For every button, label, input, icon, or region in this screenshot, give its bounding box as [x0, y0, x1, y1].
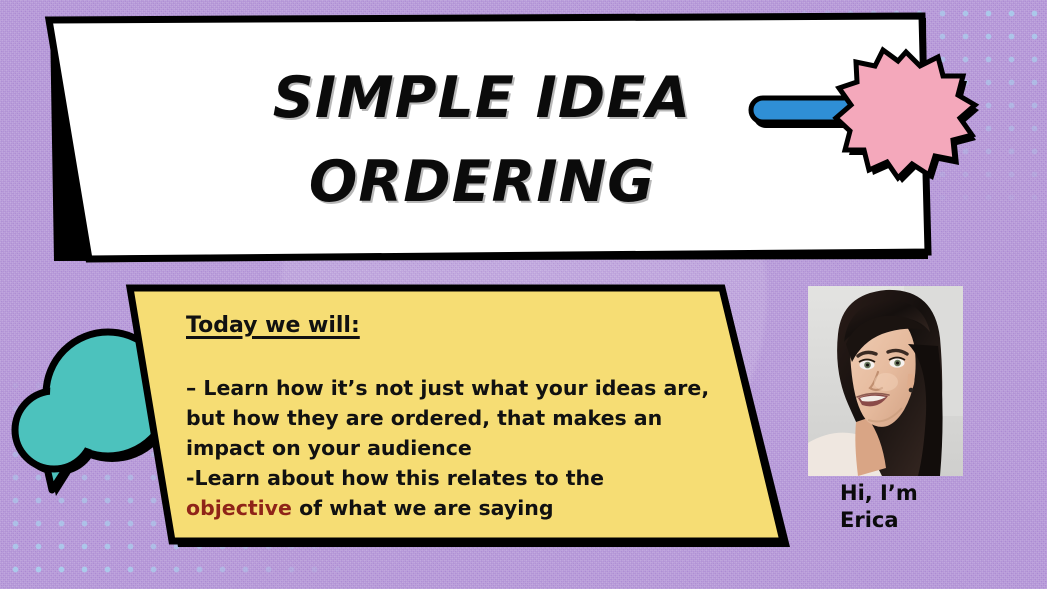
- caption-line-2: Erica: [840, 507, 1030, 534]
- card-line-2: but how they are ordered, that makes an: [186, 403, 756, 433]
- slide-title: SIMPLE IDEA ORDERING: [38, 56, 926, 224]
- title-line-2: ORDERING: [38, 140, 926, 224]
- card-line-5-suffix: of what we are saying: [292, 496, 554, 520]
- card-line-4: -Learn about how this relates to the: [186, 463, 756, 493]
- starburst-shape: [836, 50, 975, 178]
- card-line-1: – Learn how it’s not just what your idea…: [186, 373, 756, 403]
- content-card: Today we will: – Learn how it’s not just…: [118, 285, 788, 550]
- starburst-decoration: [836, 50, 976, 180]
- title-banner: SIMPLE IDEA ORDERING: [38, 16, 926, 266]
- card-line-3: impact on your audience: [186, 433, 756, 463]
- presenter-photo: [808, 286, 963, 476]
- presenter-caption: Hi, I’m Erica: [840, 480, 1030, 534]
- highlighted-term: objective: [186, 496, 292, 520]
- card-heading: Today we will:: [186, 311, 756, 341]
- slide-canvas: SIMPLE IDEA ORDERING: [0, 0, 1047, 589]
- card-line-5: objective of what we are saying: [186, 493, 756, 523]
- card-content: Today we will: – Learn how it’s not just…: [186, 311, 756, 523]
- caption-line-1: Hi, I’m: [840, 480, 1030, 507]
